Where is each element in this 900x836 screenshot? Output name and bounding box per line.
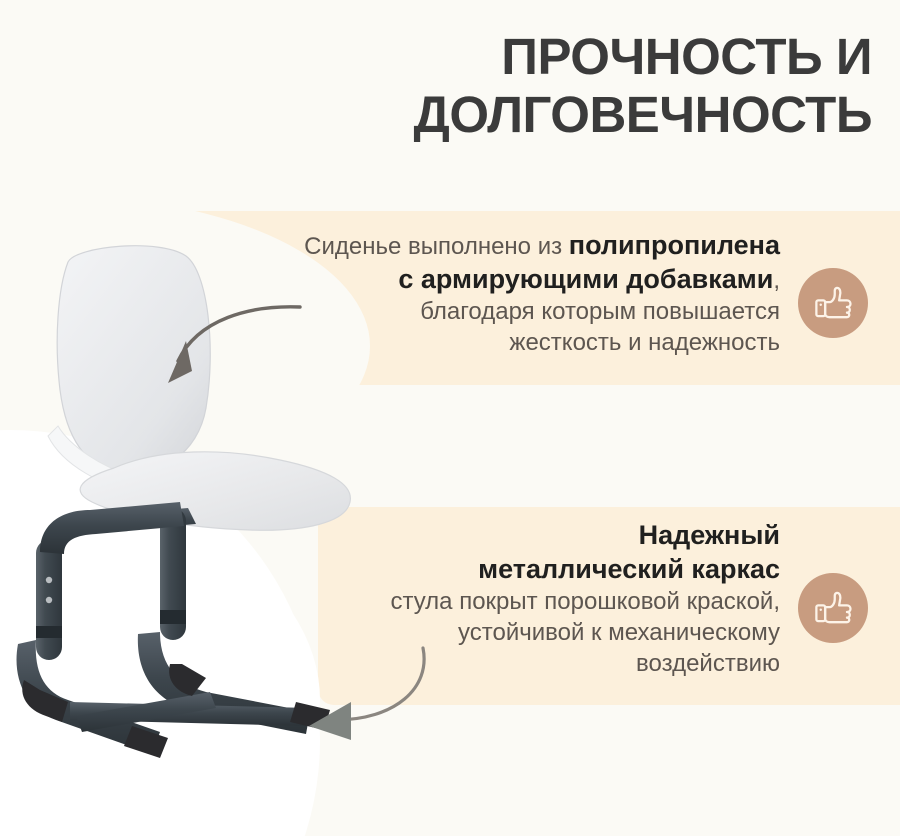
page-title-line-1: ПРОЧНОСТЬ И xyxy=(312,28,872,86)
feature-2-bold-2: металлический каркас xyxy=(300,552,780,586)
feature-1-line-2: с армирующими добавками, xyxy=(150,262,780,296)
feature-1-comma: , xyxy=(773,267,780,294)
thumbs-up-icon xyxy=(812,282,854,324)
feature-1-bold-1: полипропилена xyxy=(569,230,780,260)
feature-2-tail-1: стула покрыт порошковой краской, xyxy=(300,586,780,617)
page-title-line-2: ДОЛГОВЕЧНОСТЬ xyxy=(312,86,872,144)
feature-block-metal-frame: Надежный металлический каркас стула покр… xyxy=(300,518,780,680)
feature-block-seat-material: Сиденье выполнено из полипропилена с арм… xyxy=(150,228,780,359)
feature-1-tail-2: жесткость и надежность xyxy=(150,327,780,358)
feature-1-tail-1: благодаря которым повышается xyxy=(150,296,780,327)
feature-1-bold-2: с армирующими добавками xyxy=(398,264,773,294)
feature-2-tail-2: устойчивой к механическому xyxy=(300,617,780,648)
feature-1-lead-text: Сиденье выполнено из xyxy=(304,233,569,260)
page-title: ПРОЧНОСТЬ И ДОЛГОВЕЧНОСТЬ xyxy=(312,28,872,143)
thumbs-up-icon xyxy=(812,587,854,629)
feature-1-badge xyxy=(798,268,868,338)
feature-2-tail-3: воздействию xyxy=(300,648,780,679)
feature-2-badge xyxy=(798,573,868,643)
feature-1-line-1: Сиденье выполнено из полипропилена xyxy=(150,228,780,262)
promo-banner: ПРОЧНОСТЬ И ДОЛГОВЕЧНОСТЬ Сиденье выполн… xyxy=(0,0,900,836)
feature-2-bold-1: Надежный xyxy=(300,518,780,552)
